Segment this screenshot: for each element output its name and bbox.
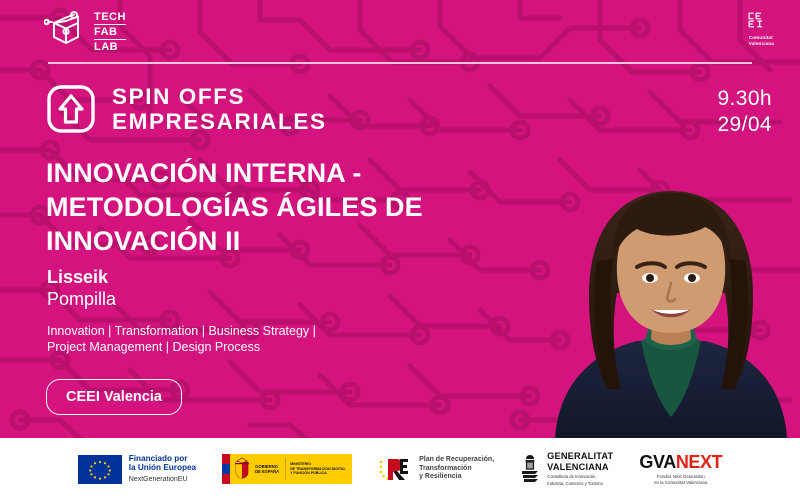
header-divider [48,62,752,64]
funding-logos-footer: Financiado por la Unión Europea NextGene… [0,438,800,500]
gov-line-2: DE ESPAÑA [255,469,281,474]
plan-line-1: Plan de Recuperación, [419,456,494,465]
spain-divider [285,458,286,480]
event-date: 29/04 [717,112,772,138]
topic-tags: Innovation | Transformation | Business S… [47,323,377,355]
spain-gov-label: GOBIERNO DE ESPAÑA [255,464,281,474]
eu-line-3: NextGenerationEU [129,475,196,485]
eu-funding-logo: Financiado por la Unión Europea NextGene… [78,454,196,484]
plan-line-3: y Resiliencia [419,473,494,482]
tags-line-2: Project Management | Design Process [47,339,377,355]
ceei-sub-line1: Comunitat [749,35,774,41]
gv-sub-2: Industria, Comercio y Turismo [547,481,613,486]
generalitat-crest-icon [520,454,540,484]
gvanext-next: NEXT [676,452,722,472]
eu-flag-icon [78,455,122,484]
gv-line-2: VALENCIANA [547,462,613,472]
ceei-mark-icon [747,15,774,32]
pr-monogram-icon [378,456,412,483]
min-line-3: Y FUNCIÓN PÚBLICA [290,471,346,475]
techfablab-wordmark: TECH FAB LAB [94,11,126,53]
speaker-photo [545,175,800,438]
gvanext-sub-2: en la Comunitat Valenciana [639,480,722,485]
techfablab-logo: TECH FAB LAB [44,10,126,54]
tfl-line-tech: TECH [94,11,126,23]
cube-icon [44,10,88,54]
tags-line-1: Innovation | Transformation | Business S… [47,323,377,339]
gvanext-wordmark: GVANEXT [639,452,722,472]
spain-gov-badge: GOBIERNO DE ESPAÑA MINISTERIO DE TRANSFO… [222,454,352,484]
gv-line-1: GENERALITAT [547,451,613,461]
title-line-3: INNOVACIÓN II [46,224,546,258]
session-title: INNOVACIÓN INTERNA - METODOLOGÍAS ÁGILES… [46,156,546,258]
spain-coat-of-arms-icon [233,457,251,481]
program-line1: SPIN OFFS [112,84,327,109]
eu-funding-text: Financiado por la Unión Europea NextGene… [129,454,196,484]
gvanext-gva: GVA [639,452,675,472]
ceei-logo: Comunitat Valenciana [747,12,774,46]
eu-line-1: Financiado por [129,454,196,464]
tfl-line-lab: LAB [94,41,126,53]
generalitat-text: GENERALITAT VALENCIANA Conselleria de In… [547,451,613,486]
recovery-plan-text: Plan de Recuperación, Transformación y R… [419,456,494,482]
program-heading: SPIN OFFS EMPRESARIALES [46,84,327,134]
program-title: SPIN OFFS EMPRESARIALES [112,84,327,134]
up-arrow-icon [46,84,96,134]
title-line-1: INNOVACIÓN INTERNA - [46,156,546,190]
title-line-2: METODOLOGÍAS ÁGILES DE [46,190,546,224]
event-time: 9.30h [717,86,772,112]
speaker-last-name: Pompilla [47,288,116,310]
gva-next-logo: GVANEXT Fondos Next Generation en la Com… [639,453,722,486]
generalitat-valenciana-logo: GENERALITAT VALENCIANA Conselleria de In… [520,451,613,486]
spain-flag-bars-icon [222,454,230,484]
speaker-name: Lisseik Pompilla [47,266,116,310]
gv-sub-1: Conselleria de Innovación, [547,474,613,479]
organizer-badge[interactable]: CEEI Valencia [46,379,182,415]
event-datetime: 9.30h 29/04 [717,86,772,138]
spain-ministry-label: MINISTERIO DE TRANSFORMACIÓN DIGITAL Y F… [290,462,346,475]
tfl-line-fab: FAB [94,24,126,40]
recovery-plan-logo: Plan de Recuperación, Transformación y R… [378,456,494,483]
gvanext-sub-1: Fondos Next Generation [639,474,722,479]
event-poster: TECH FAB LAB Comunitat Valenciana [0,0,800,500]
program-line2: EMPRESARIALES [112,109,327,134]
spain-government-logo: GOBIERNO DE ESPAÑA MINISTERIO DE TRANSFO… [222,454,352,484]
ceei-subtitle: Comunitat Valenciana [749,35,774,46]
plan-line-2: Transformación [419,465,494,474]
speaker-first-name: Lisseik [47,266,116,288]
eu-line-2: la Unión Europea [129,463,196,473]
ceei-sub-line2: Valenciana [749,41,774,47]
